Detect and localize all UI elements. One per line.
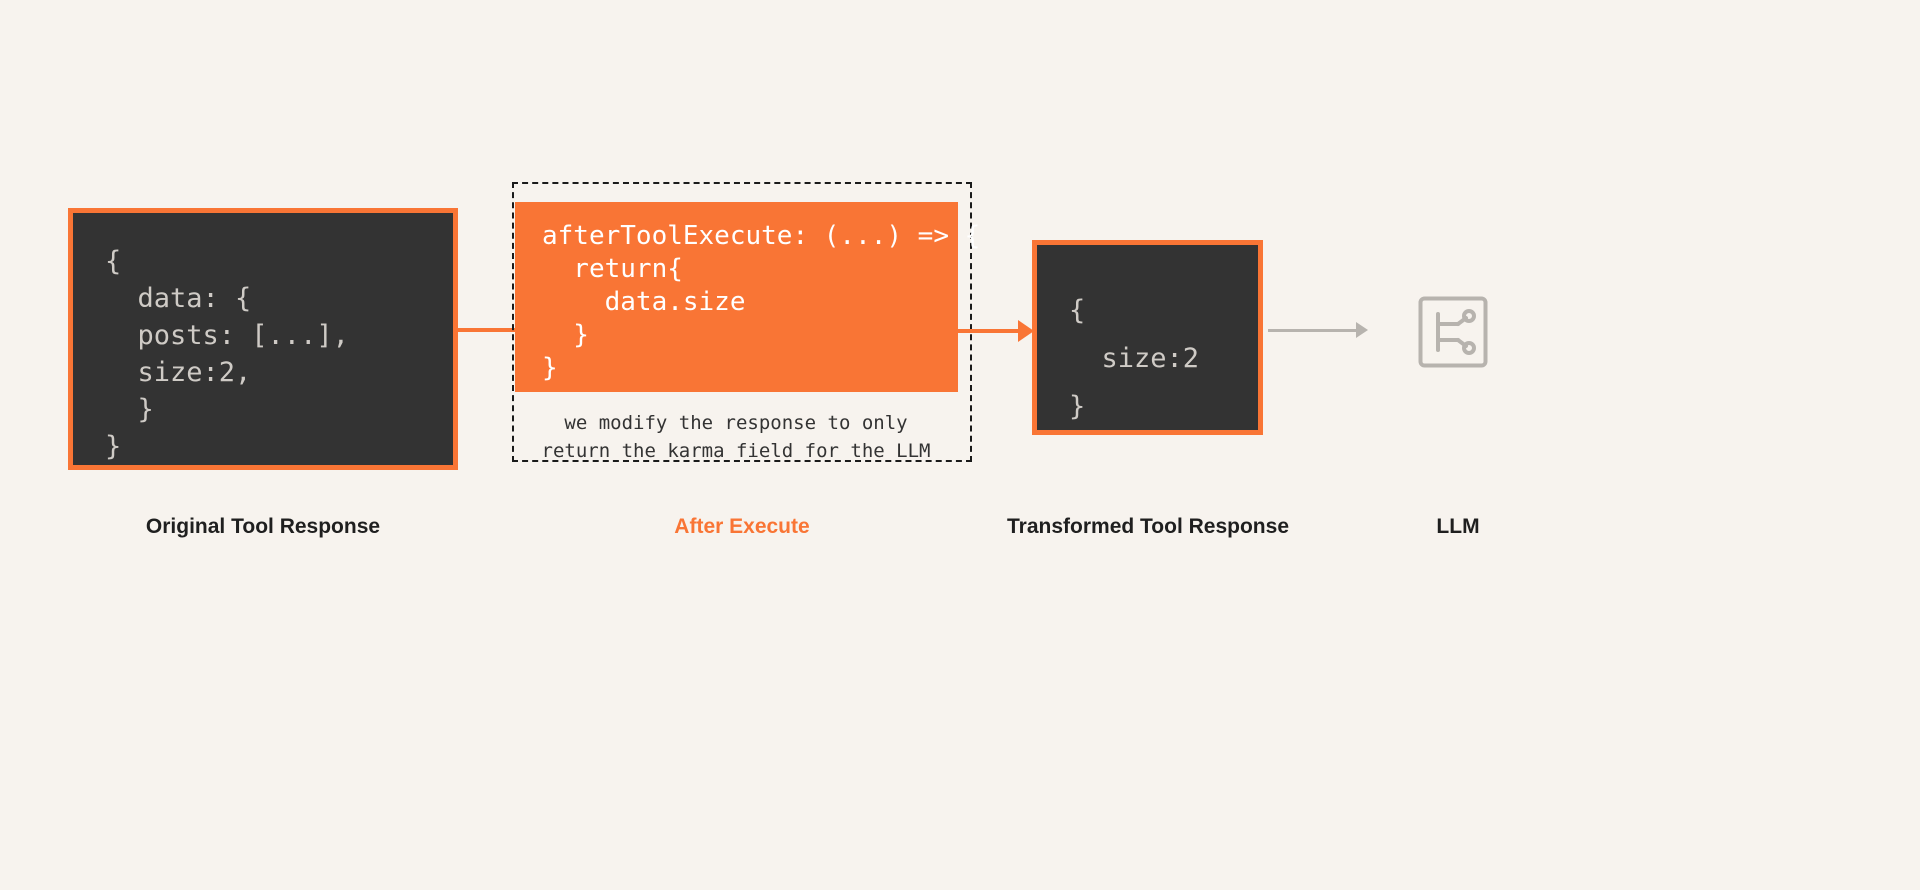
transformed-tool-response-block: { size:2 } [1032,240,1263,435]
arrow-original-to-after [456,328,518,332]
chip-icon [1418,294,1488,370]
original-tool-response-block: { data: { posts: [...], size:2, } } [68,208,458,470]
caption-transformed-tool-response: Transformed Tool Response [1003,515,1293,539]
arrow-transformed-to-llm-head [1356,322,1368,338]
after-execute-block: afterToolExecute: (...) => { return{ dat… [515,202,958,392]
caption-after-execute: After Execute [512,515,972,539]
caption-original-tool-response: Original Tool Response [68,515,458,539]
original-tool-response-code: { data: { posts: [...], size:2, } } [73,213,453,465]
transformed-tool-response-code: { size:2 } [1037,245,1258,431]
arrow-transformed-to-llm [1268,329,1358,332]
diagram-canvas: { data: { posts: [...], size:2, } } Orig… [0,0,1920,890]
after-execute-code: afterToolExecute: (...) => { return{ dat… [515,202,958,385]
after-execute-annotation: we modify the response to only return th… [516,410,956,465]
chip-icon-svg [1418,294,1488,370]
caption-llm: LLM [1383,515,1533,539]
